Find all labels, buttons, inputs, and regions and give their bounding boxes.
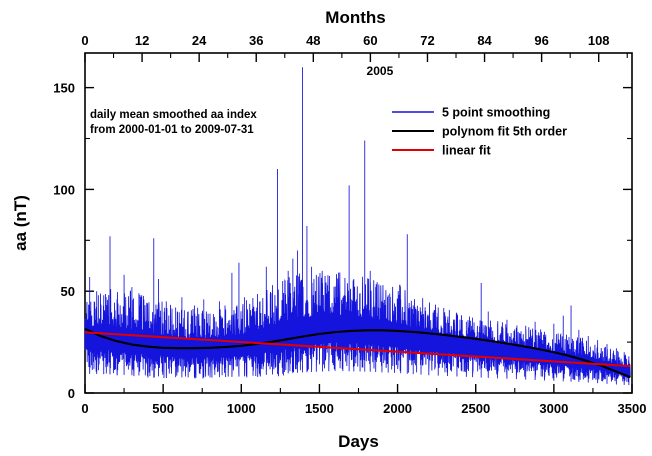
top-axis-tick-label: 48 bbox=[306, 33, 320, 48]
top-axis-tick-label: 36 bbox=[249, 33, 263, 48]
era-label: 2005 bbox=[367, 64, 394, 78]
legend-label-polynom: polynom fit 5th order bbox=[442, 125, 567, 139]
x-axis-tick-label: 500 bbox=[152, 401, 174, 416]
legend-label-linear: linear fit bbox=[442, 144, 491, 158]
x-axis-tick-label: 1000 bbox=[227, 401, 256, 416]
x-axis-tick-label: 0 bbox=[81, 401, 88, 416]
top-axis-tick-label: 60 bbox=[363, 33, 377, 48]
aa-index-chart: 0500100015002000250030003500Days01224364… bbox=[0, 0, 652, 456]
x-axis-tick-label: 1500 bbox=[305, 401, 334, 416]
legend-label-smoothing: 5 point smoothing bbox=[442, 106, 550, 120]
y-axis-tick-label: 50 bbox=[61, 284, 75, 299]
top-axis-tick-label: 84 bbox=[477, 33, 492, 48]
top-axis-tick-label: 24 bbox=[192, 33, 207, 48]
y-axis-tick-label: 150 bbox=[53, 81, 75, 96]
chart-container: 0500100015002000250030003500Days01224364… bbox=[0, 0, 652, 456]
x-axis-title: Days bbox=[338, 432, 379, 451]
top-axis-tick-label: 0 bbox=[81, 33, 88, 48]
x-axis-tick-label: 2000 bbox=[383, 401, 412, 416]
top-axis-title: Months bbox=[325, 8, 385, 27]
top-axis-tick-label: 96 bbox=[534, 33, 548, 48]
x-axis-tick-label: 3500 bbox=[618, 401, 647, 416]
top-axis-tick-label: 12 bbox=[135, 33, 149, 48]
y-axis-tick-label: 100 bbox=[53, 182, 75, 197]
x-axis-tick-label: 2500 bbox=[461, 401, 490, 416]
top-axis-tick-label: 72 bbox=[420, 33, 434, 48]
y-axis-tick-label: 0 bbox=[68, 386, 75, 401]
top-axis-tick-label: 108 bbox=[588, 33, 610, 48]
annotation-line-1: daily mean smoothed aa index bbox=[90, 109, 257, 121]
y-axis-title: aa (nT) bbox=[11, 195, 30, 251]
annotation-line-2: from 2000-01-01 to 2009-07-31 bbox=[90, 124, 254, 136]
x-axis-tick-label: 3000 bbox=[539, 401, 568, 416]
